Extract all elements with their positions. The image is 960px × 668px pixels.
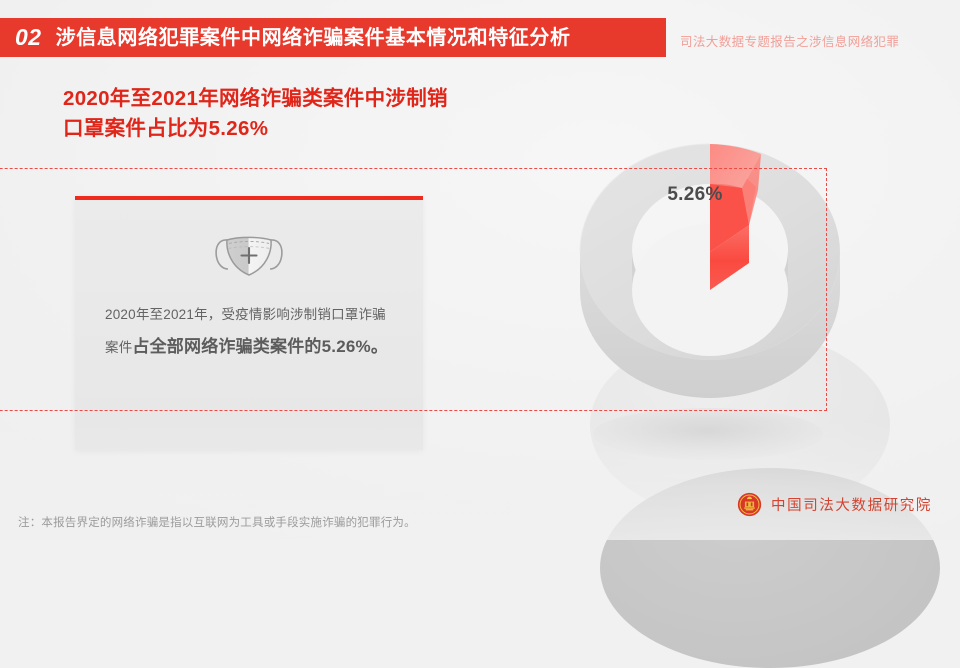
footer-note: 注：本报告界定的网络诈骗是指以互联网为工具或手段实施诈骗的犯罪行为。 — [18, 514, 416, 530]
card-text-part-1: 2020年至2021年，受疫情影响涉制销口 — [105, 307, 345, 322]
face-mask-icon — [214, 230, 284, 280]
footer-brand-name: 中国司法大数据研究院 — [771, 494, 932, 515]
insight-card: 2020年至2021年，受疫情影响涉制销口罩诈骗案件占全部网络诈骗类案件的5.2… — [75, 196, 423, 450]
report-subtitle: 司法大数据专题报告之涉信息网络犯罪 — [680, 31, 899, 50]
header-bar: 02 涉信息网络犯罪案件中网络诈骗案件基本情况和特征分析 — [0, 18, 666, 57]
card-accent-bar — [75, 196, 423, 200]
page-title-line-1: 2020年至2021年网络诈骗类案件中涉制销 — [63, 84, 683, 114]
page-title-line-2: 口罩案件占比为5.26% — [63, 114, 683, 144]
page-title: 2020年至2021年网络诈骗类案件中涉制销 口罩案件占比为5.26% — [63, 84, 683, 143]
donut-chart: 5.26% — [545, 140, 875, 470]
section-title: 涉信息网络犯罪案件中网络诈骗案件基本情况和特征分析 — [56, 28, 571, 48]
national-emblem-icon — [737, 492, 762, 517]
footer-logo: 中国司法大数据研究院 — [737, 492, 932, 517]
section-number: 02 — [15, 26, 42, 49]
card-text-strong-2: 案件的5.26%。 — [270, 337, 388, 356]
card-text-strong-1: 占全部网络诈骗类 — [132, 337, 270, 356]
card-body-text: 2020年至2021年，受疫情影响涉制销口罩诈骗案件占全部网络诈骗类案件的5.2… — [105, 300, 399, 366]
slice-percentage-label: 5.26% — [640, 184, 750, 206]
